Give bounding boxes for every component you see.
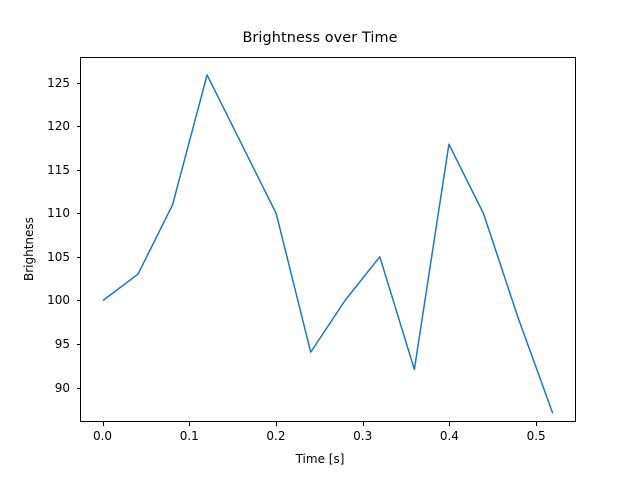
chart-title: Brightness over Time [0, 30, 640, 46]
x-tick-label: 0.1 [180, 429, 199, 443]
x-tick-mark [449, 422, 450, 426]
y-tick-label: 120 [30, 119, 70, 133]
x-tick-label: 0.4 [440, 429, 459, 443]
line-plot-svg [81, 58, 575, 421]
x-tick-mark [103, 422, 104, 426]
x-tick-mark [276, 422, 277, 426]
y-tick-label: 100 [30, 293, 70, 307]
x-tick-mark [363, 422, 364, 426]
x-tick-label: 0.2 [266, 429, 285, 443]
y-tick-label: 90 [30, 381, 70, 395]
x-tick-mark [189, 422, 190, 426]
y-tick-label: 115 [30, 163, 70, 177]
y-tick-label: 95 [30, 337, 70, 351]
x-tick-mark [536, 422, 537, 426]
x-tick-label: 0.3 [353, 429, 372, 443]
plot-area [80, 57, 576, 422]
y-tick-label: 125 [30, 76, 70, 90]
figure-canvas: Brightness over Time Brightness Time [s]… [0, 0, 640, 480]
x-tick-label: 0.0 [93, 429, 112, 443]
y-tick-label: 105 [30, 250, 70, 264]
x-tick-label: 0.5 [527, 429, 546, 443]
data-series-line [103, 75, 552, 413]
y-tick-label: 110 [30, 206, 70, 220]
x-axis-label: Time [s] [0, 452, 640, 466]
